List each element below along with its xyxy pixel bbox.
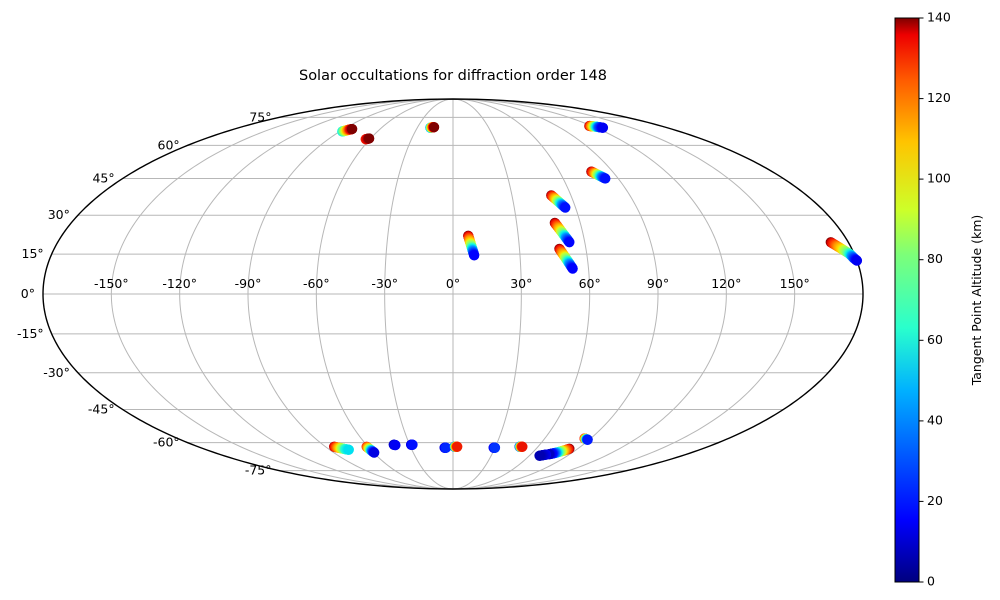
colorbar-tick-label: 100	[927, 171, 951, 186]
colorbar-ticks: 020406080100120140	[919, 10, 951, 589]
colorbar-axis-label: Tangent Point Altitude (km)	[969, 215, 984, 387]
colorbar-tick-label: 40	[927, 412, 943, 427]
colorbar-tick-label: 140	[927, 10, 951, 25]
colorbar-tick-label: 0	[927, 574, 935, 589]
colorbar-tick-label: 120	[927, 90, 951, 105]
colorbar-tick-label: 20	[927, 493, 943, 508]
colorbar-tick-label: 60	[927, 332, 943, 347]
figure-canvas: 75°60°45°30°15°0°-15°-30°-45°-60°-75° -1…	[0, 0, 1000, 600]
colorbar: 020406080100120140 Tangent Point Altitud…	[0, 0, 1000, 600]
colorbar-gradient-bar	[895, 18, 919, 582]
colorbar-tick-label: 80	[927, 251, 943, 266]
